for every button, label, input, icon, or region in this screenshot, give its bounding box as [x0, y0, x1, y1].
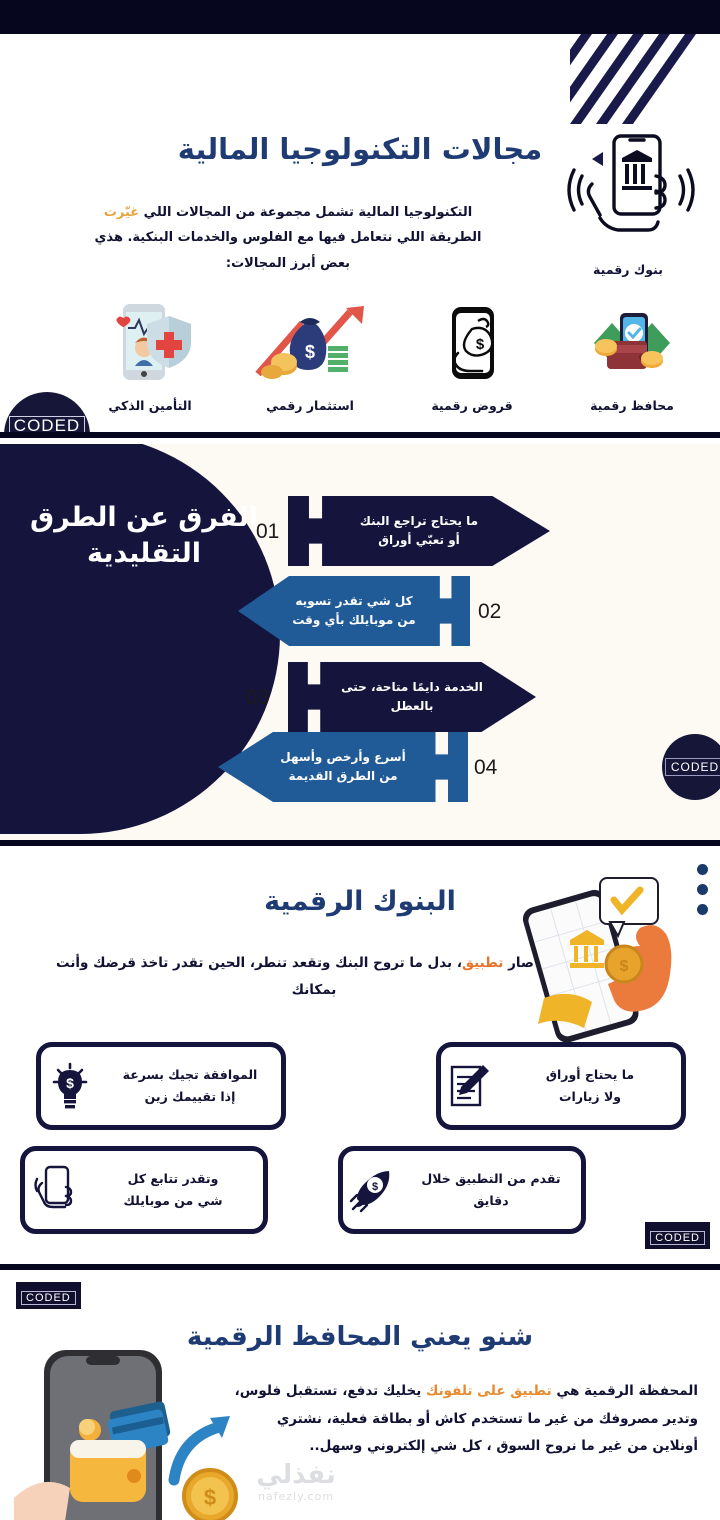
svg-text:$: $ — [372, 1181, 378, 1193]
digital-banks-paragraph: البنك صار تطبيق، بدل ما تروح البنك وتقعد… — [34, 950, 594, 1004]
coded-badge-text: CODED — [21, 1291, 76, 1305]
intro-text-part2: الطريقة اللي نتعامل فيها مع الفلوس والخد… — [95, 230, 482, 270]
step-chevron-01: ما يحتاج تراجع البنك أو تعبّي أوراق — [288, 496, 550, 566]
step-text: كل شي تقدر تسويه من موبايلك بأي وقت — [276, 592, 431, 630]
hand-phone-icon — [25, 1165, 83, 1215]
card-line2: إذا تقييمك زين — [145, 1089, 236, 1104]
card-line2: ولا زيارات — [559, 1089, 621, 1104]
section-difference: الفرق عن الطرق التقليدية ما يحتاج تراجع … — [0, 444, 720, 840]
feature-card-apply-in-minutes: تقدم من التطبيق خلال دقايق $ — [338, 1146, 586, 1234]
step-number-02: 02 — [478, 600, 501, 624]
step-line2: من موبايلك بأي وقت — [292, 613, 415, 627]
card-text: تقدم من التطبيق خلال دقايق — [401, 1168, 581, 1212]
fintech-item-label: التأمين الذكي — [70, 398, 230, 413]
section-fintech-fields: مجالات التكنولوجيا المالية التكنولوجيا ا… — [0, 0, 720, 438]
step-number-03: 03 — [246, 686, 269, 710]
feature-card-track-from-mobile: وتقدر تتابع كل شي من موبايلك — [20, 1146, 268, 1234]
card-line2: شي من موبايلك — [123, 1193, 222, 1208]
notepad-pen-icon — [441, 1063, 499, 1109]
card-line2: دقايق — [473, 1193, 508, 1208]
svg-text:$: $ — [620, 958, 629, 975]
intro-highlight: غيّرت — [104, 205, 139, 220]
fintech-item-label: محافظ رقمية — [552, 398, 712, 413]
card-line1: الموافقة تجيك بسرعة — [123, 1067, 258, 1082]
step-chevron-03: الخدمة دايمًا متاحة، حتى بالعطل — [288, 662, 536, 732]
step-line1: أسرع وأرخص وأسهل — [280, 750, 405, 764]
card-text: وتقدر تتابع كل شي من موبايلك — [83, 1168, 263, 1212]
step-text: ما يحتاج تراجع البنك أو تعبّي أوراق — [344, 512, 494, 550]
watermark-domain: nafezly.com — [196, 1490, 396, 1503]
fintech-item-digital-wallet: محافظ رقمية — [552, 300, 712, 413]
step-line2: من الطرق القديمة — [288, 769, 397, 783]
fintech-item-digital-loans: $ قروض رقمية — [392, 300, 552, 413]
paragraph-highlight: تطبيق — [462, 955, 503, 971]
paragraph-highlight: تطبيق على تلفونك — [426, 1383, 552, 1399]
section-divider-3 — [0, 1264, 720, 1270]
feature-card-no-papers: ما يحتاج أوراق ولا زيارات — [436, 1042, 686, 1130]
card-line1: ما يحتاج أوراق — [546, 1067, 634, 1082]
step-number-01: 01 — [256, 520, 279, 544]
top-dark-bar — [0, 0, 720, 34]
money-bag-growth-icon: $ — [230, 300, 390, 386]
section-digital-wallets: CODED شنو يعني المحافظ الرقمية المحفظة ا… — [0, 1274, 720, 1520]
coded-badge-text: CODED — [665, 758, 720, 776]
card-line1: تقدم من التطبيق خلال — [421, 1171, 560, 1186]
rocket-dollar-icon: $ — [343, 1167, 401, 1213]
step-line1: الخدمة دايمًا متاحة، حتى — [341, 680, 483, 694]
step-number-04: 04 — [474, 756, 497, 780]
paragraph-part2: ، بدل ما تروح البنك وتقعد تنطر، الحين تق… — [56, 955, 462, 998]
feature-card-fast-approval: الموافقة تجيك بسرعة إذا تقييمك زين $ — [36, 1042, 286, 1130]
card-text: الموافقة تجيك بسرعة إذا تقييمك زين — [99, 1064, 281, 1108]
svg-text:$: $ — [305, 342, 315, 362]
fintech-item-smart-insurance: التأمين الذكي — [70, 300, 230, 413]
section-title-difference: الفرق عن الطرق التقليدية — [14, 500, 274, 573]
step-text: الخدمة دايمًا متاحة، حتى بالعطل — [325, 678, 499, 716]
card-text: ما يحتاج أوراق ولا زيارات — [499, 1064, 681, 1108]
step-line1: كل شي تقدر تسويه — [295, 594, 412, 608]
phone-money-bag-icon: $ — [392, 300, 552, 386]
fintech-icons-row: محافظ رقمية $ قروض رقمية — [0, 300, 720, 430]
step-text: أسرع وأرخص وأسهل من الطرق القديمة — [264, 748, 421, 786]
section-divider-1 — [0, 432, 720, 438]
coded-badge-box: CODED — [16, 1282, 81, 1309]
section-digital-banks: البنوك الرقمية البنك صار تطبيق، بدل ما ت… — [0, 846, 720, 1268]
fintech-item-label: قروض رقمية — [392, 398, 552, 413]
step-line2: أو تعبّي أوراق — [378, 533, 460, 547]
fintech-item-digital-investment: $ استثمار رقمي — [230, 300, 390, 413]
card-line1: وتقدر تتابع كل — [128, 1171, 219, 1186]
step-chevron-04: أسرع وأرخص وأسهل من الطرق القديمة — [218, 732, 468, 802]
svg-text:$: $ — [476, 336, 485, 353]
intro-paragraph: التكنولوجيا المالية تشمل مجموعة من المجا… — [78, 200, 498, 276]
hand-coin-phone-illustration: $ — [514, 866, 704, 1046]
feature-icon-label: بنوك رقمية — [558, 262, 698, 277]
svg-text:$: $ — [66, 1075, 74, 1091]
infographic-page: مجالات التكنولوجيا المالية التكنولوجيا ا… — [0, 0, 720, 1520]
diagonal-stripes-decoration — [570, 34, 720, 124]
watermark: نفذلي nafezly.com — [196, 1460, 396, 1503]
step-line1: ما يحتاج تراجع البنك — [360, 514, 478, 528]
paragraph-part1: المحفظة الرقمية هي — [552, 1383, 698, 1399]
coded-badge-text: CODED — [650, 1231, 705, 1245]
watermark-arabic: نفذلي — [196, 1460, 396, 1490]
wallet-cards-icon — [552, 300, 712, 386]
lightbulb-dollar-icon: $ — [41, 1062, 99, 1110]
phone-shield-health-icon — [70, 300, 230, 386]
phone-bank-hand-icon — [560, 128, 700, 258]
digital-wallets-paragraph: المحفظة الرقمية هي تطبيق على تلفونك يخلي… — [230, 1378, 698, 1461]
intro-text-part1: التكنولوجيا المالية تشمل مجموعة من المجا… — [139, 205, 472, 220]
coded-badge-box: CODED — [645, 1222, 710, 1249]
step-line2: بالعطل — [391, 699, 434, 713]
fintech-item-label: استثمار رقمي — [230, 398, 390, 413]
coded-badge-circle: CODED — [662, 734, 720, 800]
